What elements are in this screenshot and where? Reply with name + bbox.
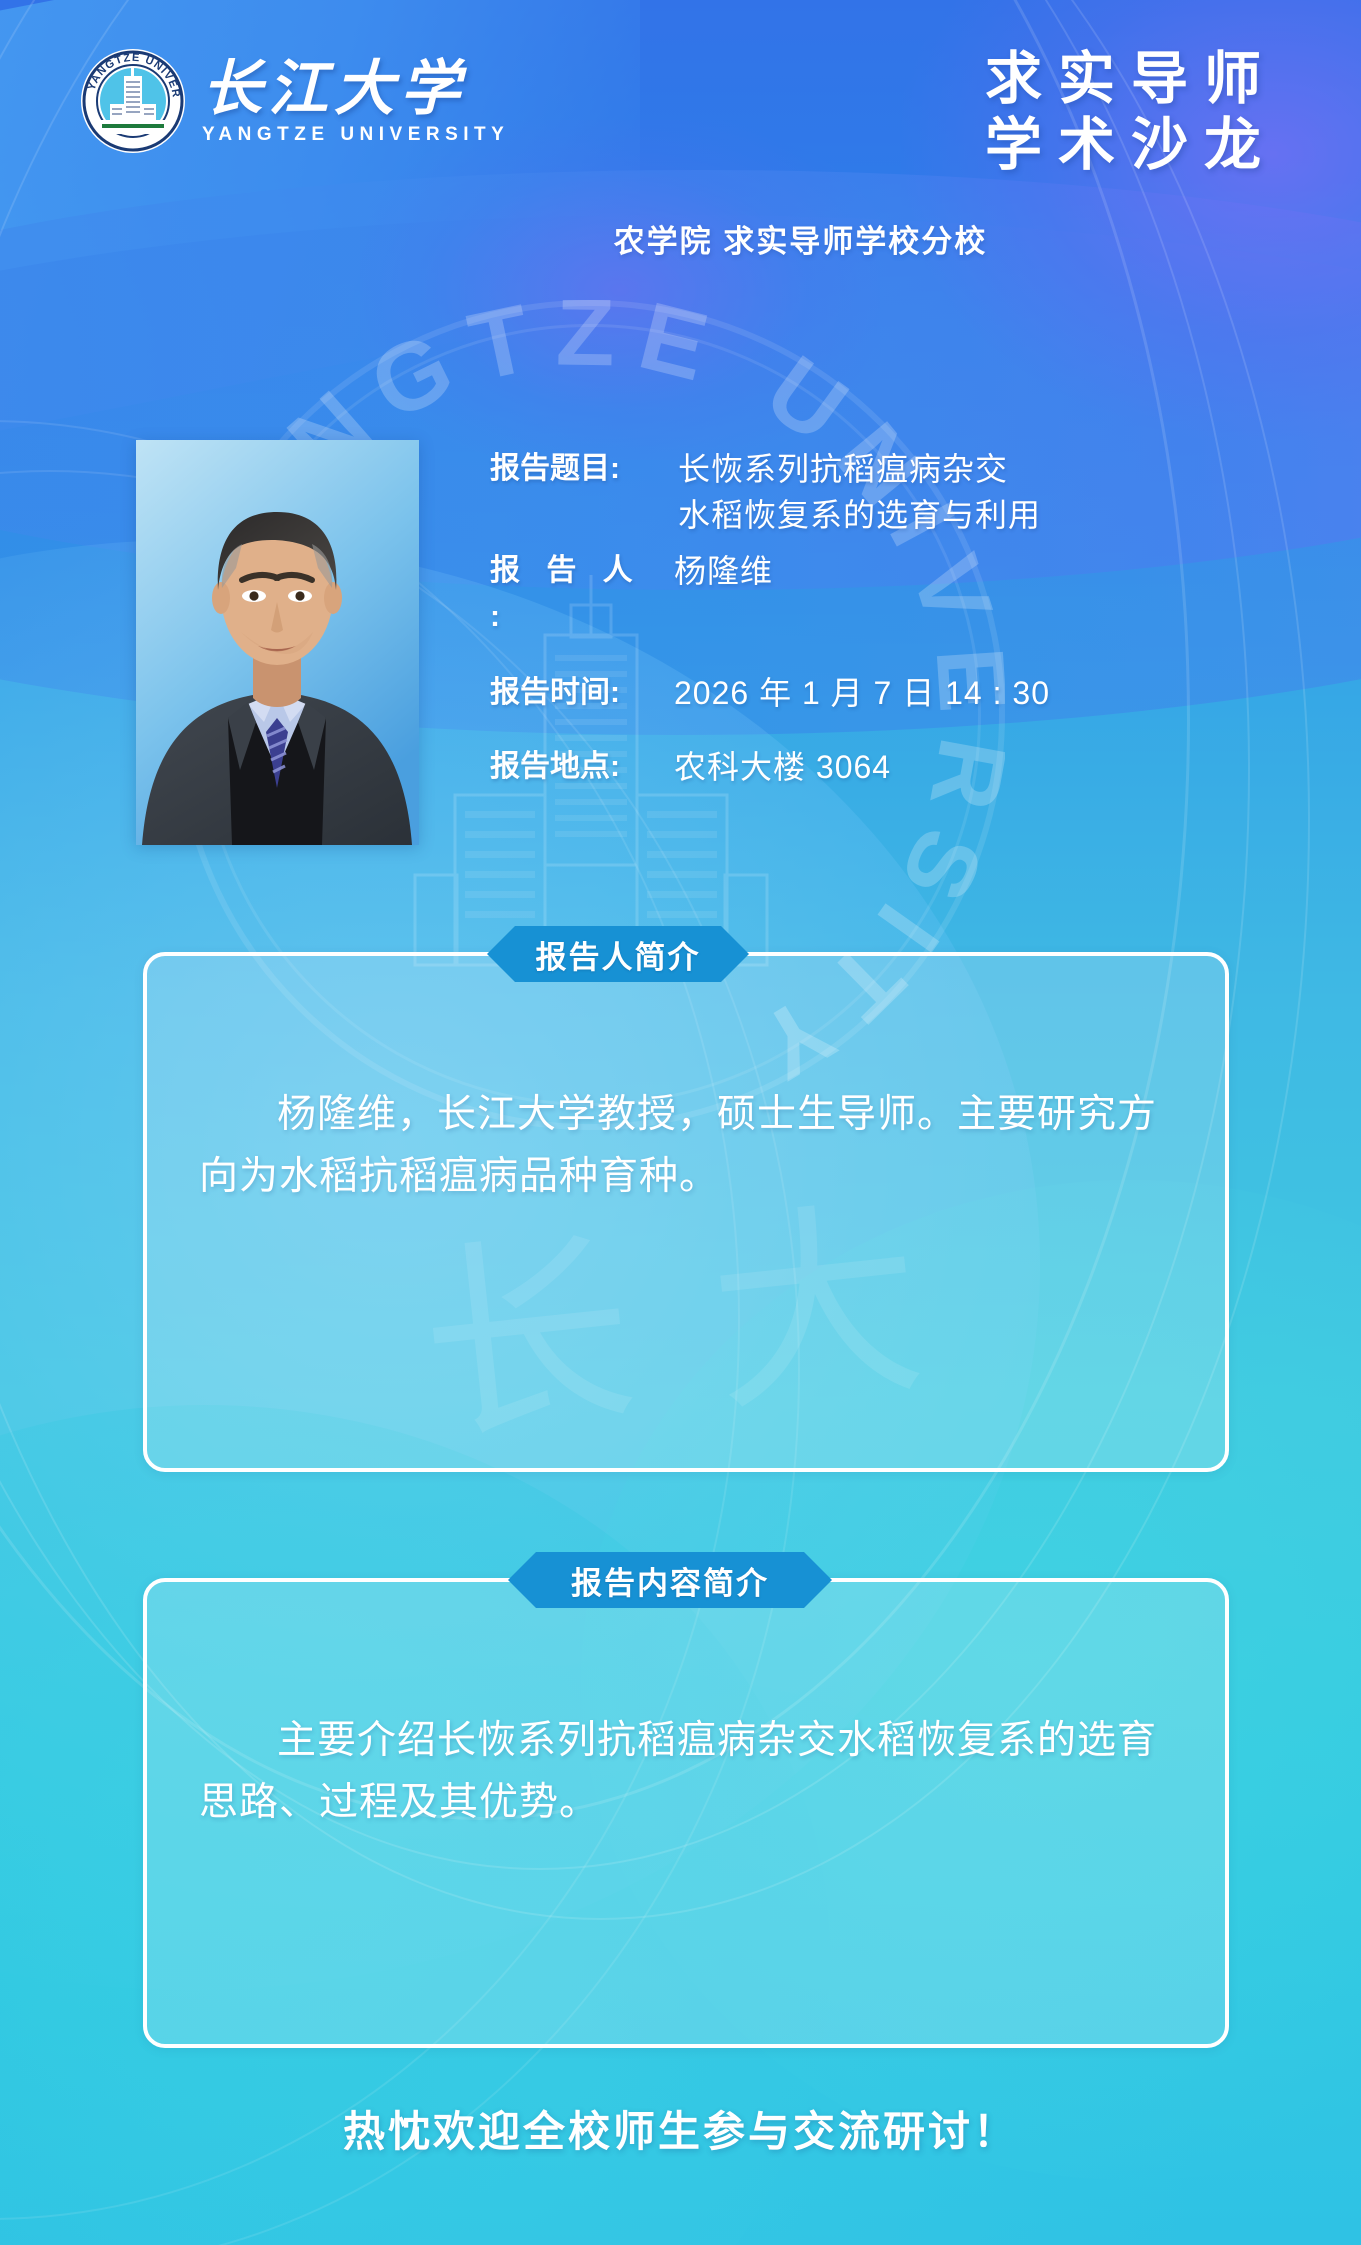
section-badge-content-abstract-label: 报告内容简介 (571, 1558, 769, 1603)
info-label-title: 报告题目: (490, 446, 650, 492)
info-value-title-line-2: 水稻恢复系的选育与利用 (678, 492, 1041, 538)
university-seal-icon: YANGTZE UNIVERSITY (80, 48, 186, 154)
speaker-photo (136, 440, 419, 845)
poster-footer: 热忱欢迎全校师生参与交流研讨！ (0, 2098, 1361, 2159)
info-value-place: 农科大楼 3064 (650, 744, 891, 790)
info-row-speaker: 报 告 人 : 杨隆维 (490, 548, 1290, 640)
section-badge-speaker-bio: 报告人简介 (487, 926, 749, 982)
university-logo: YANGTZE UNIVERSITY 长江大学 YANGTZE UNIVERSI… (80, 48, 509, 154)
info-value-title-line-1: 长恢系列抗稻瘟病杂交 (678, 446, 1041, 492)
poster-header: YANGTZE UNIVERSITY 长江大学 YANGTZE UNIVERSI… (0, 0, 1361, 270)
poster-title: 求实导师 学术沙龙 (985, 46, 1281, 178)
speaker-bio-text: 杨隆维，长江大学教授，硕士生导师。主要研究方向为水稻抗稻瘟病品种育种。 (199, 1084, 1187, 1208)
section-badge-speaker-bio-label: 报告人简介 (536, 932, 701, 977)
info-row-place: 报告地点: 农科大楼 3064 (490, 744, 1290, 790)
info-label-place: 报告地点: (490, 744, 650, 790)
university-name-cn: 长江大学 (202, 56, 509, 122)
info-value-time: 2026 年 1 月 7 日 14 : 30 (650, 670, 1050, 716)
poster-title-line-2: 学术沙龙 (985, 112, 1281, 178)
content-abstract-text: 主要介绍长恢系列抗稻瘟病杂交水稻恢复系的选育思路、过程及其优势。 (199, 1710, 1187, 1834)
info-label-time: 报告时间: (490, 670, 650, 716)
section-badge-content-abstract: 报告内容简介 (508, 1552, 832, 1608)
info-label-speaker: 报 告 人 : (490, 548, 650, 640)
content-abstract-card: 主要介绍长恢系列抗稻瘟病杂交水稻恢复系的选育思路、过程及其优势。 (143, 1578, 1229, 2048)
event-info: 报告题目: 长恢系列抗稻瘟病杂交 水稻恢复系的选育与利用 报 告 人 : 杨隆维… (490, 446, 1290, 790)
info-row-title: 报告题目: 长恢系列抗稻瘟病杂交 水稻恢复系的选育与利用 (490, 446, 1290, 538)
info-value-speaker: 杨隆维 (650, 548, 773, 594)
poster-root: YANGTZE UNIVERSITY (0, 0, 1361, 2245)
poster-title-line-1: 求实导师 (985, 46, 1281, 112)
info-row-time: 报告时间: 2026 年 1 月 7 日 14 : 30 (490, 670, 1290, 716)
speaker-bio-card: 杨隆维，长江大学教授，硕士生导师。主要研究方向为水稻抗稻瘟病品种育种。 (143, 952, 1229, 1472)
info-value-title: 长恢系列抗稻瘟病杂交 水稻恢复系的选育与利用 (650, 446, 1041, 538)
poster-subtitle: 农学院 求实导师学校分校 (0, 216, 1361, 261)
university-name-en: YANGTZE UNIVERSITY (202, 124, 509, 146)
